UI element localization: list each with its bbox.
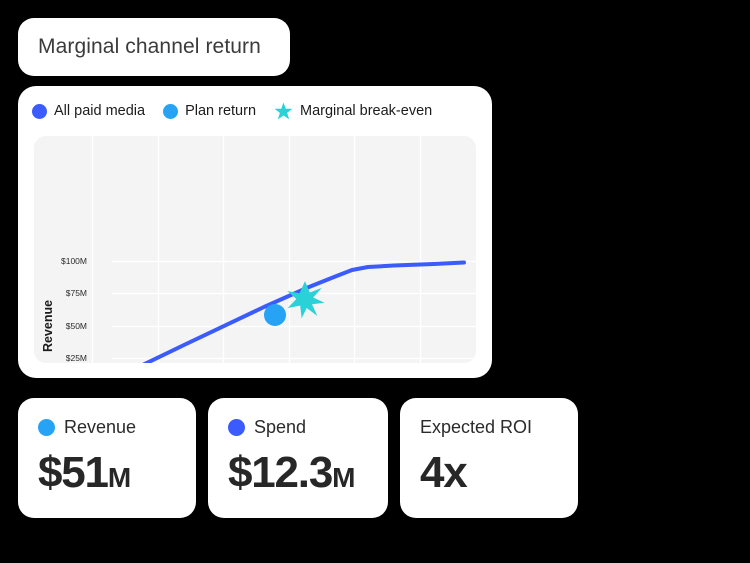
legend-item-plan-return[interactable]: Plan return — [163, 103, 256, 119]
star-icon — [274, 102, 293, 121]
legend-label: Plan return — [185, 103, 256, 119]
stat-value-number: 4x — [420, 448, 467, 497]
y-axis-title: Revenue — [41, 300, 55, 352]
legend-item-marginal-break-even[interactable]: Marginal break-even — [274, 102, 432, 121]
stat-header: Revenue — [38, 415, 176, 439]
circle-icon — [228, 419, 245, 436]
chart-legend: All paid media Plan return Marginal brea… — [32, 100, 432, 122]
page-title: Marginal channel return — [38, 35, 261, 59]
gridlines-vertical — [93, 136, 421, 363]
svg-text:$25M: $25M — [66, 353, 87, 363]
circle-icon — [32, 104, 47, 119]
stat-label: Spend — [254, 417, 306, 438]
svg-text:$50M: $50M — [66, 321, 87, 331]
stat-label: Expected ROI — [420, 417, 532, 438]
svg-text:$75M: $75M — [66, 288, 87, 298]
stat-value-suffix: M — [332, 462, 355, 493]
title-card: Marginal channel return — [18, 18, 290, 76]
stat-card-revenue: Revenue $51M — [18, 398, 196, 518]
stat-value: 4x — [420, 451, 558, 495]
y-axis-ticks: $100M $75M $50M $25M $0M — [61, 256, 87, 363]
stat-card-expected-roi: Expected ROI 4x — [400, 398, 578, 518]
stat-card-spend: Spend $12.3M — [208, 398, 388, 518]
legend-label: All paid media — [54, 103, 145, 119]
line-chart: $100M $75M $50M $25M $0M $0 $5M $10M $15… — [34, 136, 476, 363]
gridlines-horizontal — [112, 262, 476, 364]
stat-label: Revenue — [64, 417, 136, 438]
stat-value-suffix: M — [108, 462, 131, 493]
legend-label: Marginal break-even — [300, 103, 432, 119]
stat-value-number: $12.3 — [228, 448, 332, 497]
svg-text:$100M: $100M — [61, 256, 87, 266]
chart-card: All paid media Plan return Marginal brea… — [18, 86, 492, 378]
marker-marginal-break-even[interactable] — [287, 281, 324, 318]
plot-area: $100M $75M $50M $25M $0M $0 $5M $10M $15… — [34, 136, 476, 363]
stat-header: Spend — [228, 415, 368, 439]
marker-plan-return[interactable] — [264, 304, 286, 326]
stat-value: $12.3M — [228, 451, 368, 495]
stat-value-number: $51 — [38, 448, 108, 497]
circle-icon — [163, 104, 178, 119]
legend-item-all-paid-media[interactable]: All paid media — [32, 103, 145, 119]
circle-icon — [38, 419, 55, 436]
stat-header: Expected ROI — [420, 415, 558, 439]
stat-value: $51M — [38, 451, 176, 495]
